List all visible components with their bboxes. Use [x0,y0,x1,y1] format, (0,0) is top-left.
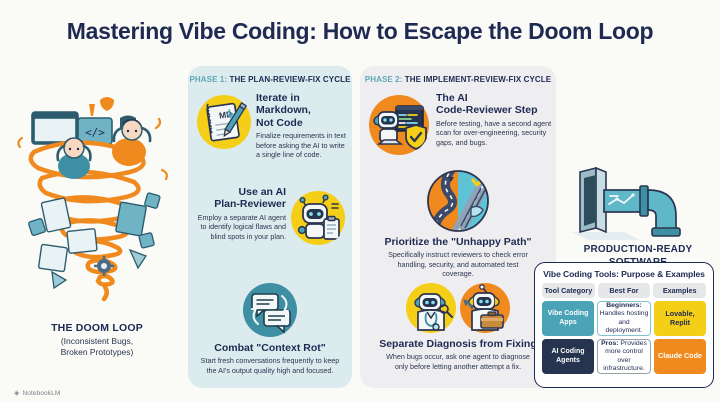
doom-loop-block: </> [12,74,182,374]
phase2-item3-title: Separate Diagnosis from Fixing [360,338,556,350]
page-title: Mastering Vibe Coding: How to Escape the… [0,18,720,45]
phase1-label-rest: THE PLAN-REVIEW-FIX CYCLE [227,75,350,84]
phase2-item3-body: When bugs occur, ask one agent to diagno… [360,352,556,371]
phase2-item-diagnosis-fixing[interactable]: Separate Diagnosis from Fixing When bugs… [360,282,556,371]
phase2-item2-title: Prioritize the "Unhappy Path" [360,236,556,248]
cell-best-for-beginners: Beginners:Handles hosting and deployment… [597,301,651,336]
cell-category-vibe-coding-apps: Vibe Coding Apps [542,301,594,336]
title-line1: Use an AI [239,186,286,198]
doom-loop-caption-title: THE DOOM LOOP [12,322,182,334]
cell-category-ai-coding-agents: AI Coding Agents [542,339,594,374]
pipeline-portal-icon [566,166,712,244]
tornado-doom-loop-icon: </> [12,74,182,314]
doctor-robot-icon [405,282,457,334]
doom-loop-caption-sub: (Inconsistent Bugs, Broken Prototypes) [12,336,182,357]
title-line3: Not Code [256,117,303,129]
speech-bubbles-refresh-icon [242,282,298,338]
doom-sub-line1: (Inconsistent Bugs, [61,336,133,346]
phase2-header: PHASE 2: THE IMPLEMENT-REVIEW-FIX CYCLE [360,75,556,84]
best-for-rest: Handles hosting and deployment. [600,310,649,334]
mechanic-robot-icon [459,282,511,334]
phase1-header: PHASE 1: THE PLAN-REVIEW-FIX CYCLE [188,75,352,84]
title-line2: Markdown, [256,104,311,116]
table-row: Vibe Coding Apps Beginners:Handles hosti… [542,301,706,336]
best-for-lead: Beginners: [606,302,642,309]
phase1-item-plan-reviewer[interactable]: Use an AI Plan-Reviewer Employ a separat… [192,186,348,241]
phase2-label-rest: THE IMPLEMENT-REVIEW-FIX CYCLE [402,75,551,84]
best-for-lead: Pros: [601,340,618,347]
title-line2: Plan-Reviewer [214,198,286,210]
title-line1: Iterate in [256,92,300,104]
notebooklm-brand-name: NotebookLM [22,390,60,397]
svg-text:</>: </> [85,126,105,139]
phase1-item1-body: Finalize requirements in text before ask… [256,131,346,160]
prod-line1: PRODUCTION-READY [584,244,693,255]
vibe-coding-tools-table: Vibe Coding Tools: Purpose & Examples To… [534,262,714,388]
notebooklm-mark-icon: ◈ [14,389,19,397]
winding-vs-straight-road-icon [427,170,489,232]
cell-best-for-pros: Pros: Provides more control over infrast… [597,339,651,374]
cell-examples-claude-code: Claude Code [654,339,706,374]
phase2-item1-title: The AI Code-Reviewer Step [436,92,552,117]
column-header-best-for: Best For [598,283,651,298]
doom-sub-line2: Broken Prototypes) [61,347,134,357]
phase1-item-markdown[interactable]: MD Iterate in Markdown, Not Code [194,92,346,160]
column-header-tool-category: Tool Category [542,283,595,298]
robot-code-review-shield-icon [368,94,430,156]
title-line2: Code-Reviewer Step [436,104,538,116]
phase2-item-code-reviewer[interactable]: The AI Code-Reviewer Step Before testing… [366,92,552,147]
table-row: AI Coding Agents Pros: Provides more con… [542,339,706,374]
markdown-notepad-icon: MD [196,94,252,150]
phase1-item2-body: Employ a separate AI agent to identify l… [192,213,286,242]
phase1-item3-title: Combat "Context Rot" [188,342,352,354]
phase2-panel: PHASE 2: THE IMPLEMENT-REVIEW-FIX CYCLE [360,66,556,388]
notebooklm-brand: ◈ NotebookLM [14,389,60,397]
phase1-panel: PHASE 1: THE PLAN-REVIEW-FIX CYCLE MD [188,66,352,388]
phase1-label-prefix: PHASE 1: [189,75,227,84]
phase2-label-prefix: PHASE 2: [365,75,403,84]
tools-table-title: Vibe Coding Tools: Purpose & Examples [542,269,706,279]
tools-table-header-row: Tool Category Best For Examples [542,283,706,298]
robot-clipboard-icon [290,190,346,246]
phase1-item2-title: Use an AI Plan-Reviewer [192,186,286,211]
phase1-item-context-rot[interactable]: Combat "Context Rot" Start fresh convers… [188,282,352,375]
phase1-item3-body: Start fresh conversations frequently to … [188,356,352,375]
phase2-item1-body: Before testing, have a second agent scan… [436,119,552,148]
phase2-item-unhappy-path[interactable]: Prioritize the "Unhappy Path" Specifical… [360,170,556,279]
column-header-examples: Examples [653,283,706,298]
title-line1: The AI [436,92,468,104]
infographic-canvas: Mastering Vibe Coding: How to Escape the… [0,0,720,402]
phase1-item1-title: Iterate in Markdown, Not Code [256,92,346,129]
cell-examples-lovable-replit: Lovable, Replit [654,301,706,336]
phase2-item2-body: Specifically instruct reviewers to check… [360,250,556,279]
